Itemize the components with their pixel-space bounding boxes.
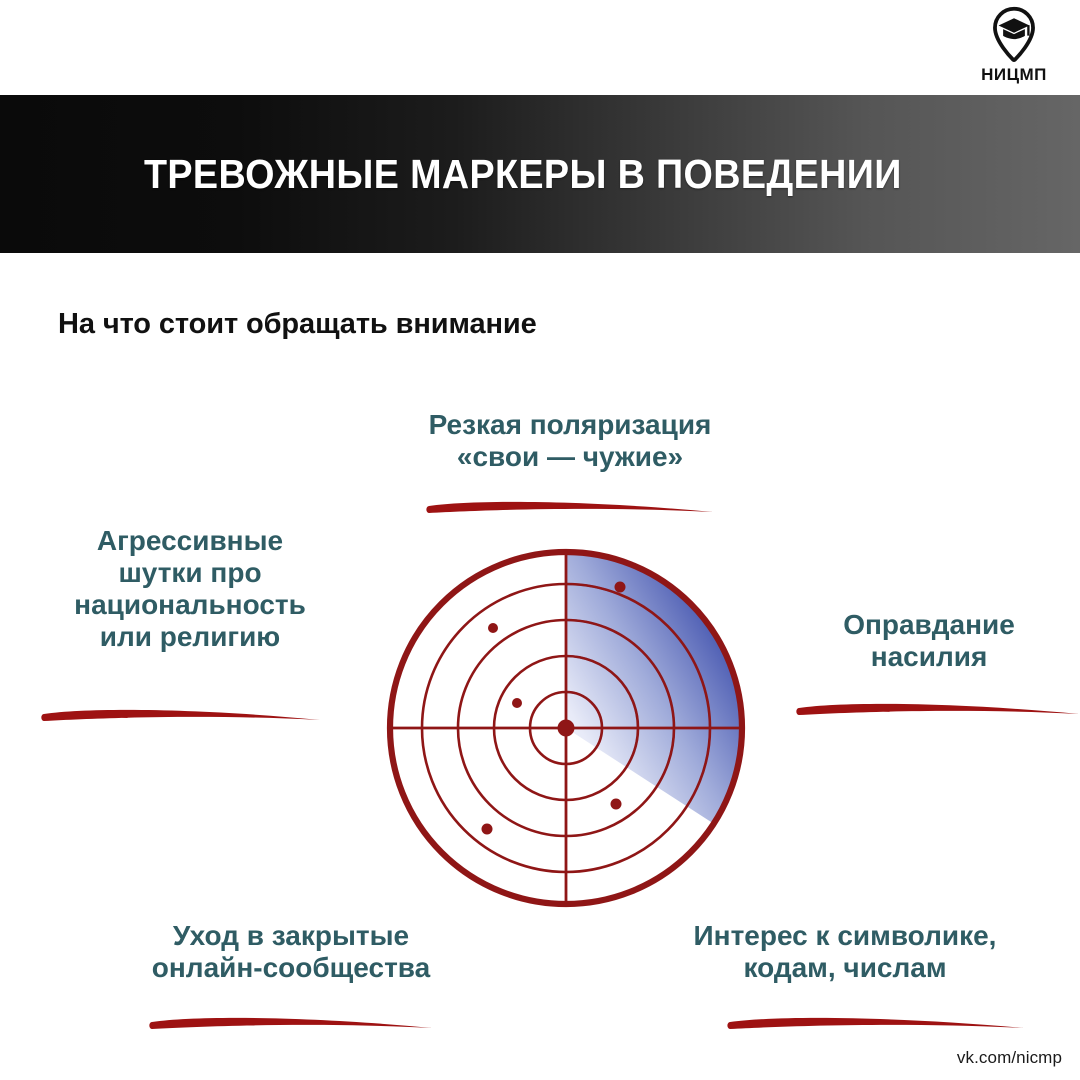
marker-line: кодам, числам [650,952,1040,984]
brand-logo: НИЦМП [962,6,1066,90]
marker-line: национальность [30,589,350,621]
header-banner: ТРЕВОЖНЫЕ МАРКЕРЫ В ПОВЕДЕНИИ [0,95,1080,253]
marker-label-polarization: Резкая поляризация «свои — чужие» [370,409,770,473]
underline-swoosh-icon [795,694,1080,724]
radar-sweep-icon [386,548,746,908]
radar-blip [615,582,626,593]
marker-label-aggressive-jokes: Агрессивные шутки про национальность или… [30,525,350,653]
marker-line: Уход в закрытые [98,920,484,952]
brand-wordmark: НИЦМП [981,66,1047,83]
underline-swoosh-icon [40,700,322,730]
radar-blip [512,698,522,708]
marker-line: Агрессивные [30,525,350,557]
marker-label-symbols-codes-numbers: Интерес к символике, кодам, числам [650,920,1040,984]
marker-label-closed-communities: Уход в закрытые онлайн-сообщества [98,920,484,984]
marker-label-justifying-violence: Оправдание насилия [782,609,1076,673]
marker-line: Интерес к символике, [650,920,1040,952]
marker-line: Оправдание [782,609,1076,641]
underline-swoosh-icon [148,1008,434,1038]
radar-blip [482,824,493,835]
radar-blip [611,799,622,810]
page-title: ТРЕВОЖНЫЕ МАРКЕРЫ В ПОВЕДЕНИИ [144,151,902,198]
radar-sweep-sector [422,552,742,872]
marker-line: насилия [782,641,1076,673]
marker-line: онлайн-сообщества [98,952,484,984]
radar-blip [488,623,498,633]
subtitle: На что стоит обращать внимание [58,308,537,341]
marker-line: или религию [30,621,350,653]
marker-line: шутки про [30,557,350,589]
underline-swoosh-icon [726,1008,1026,1038]
footer-link[interactable]: vk.com/nicmp [957,1048,1062,1068]
marker-line: «свои — чужие» [370,441,770,473]
underline-swoosh-icon [425,492,715,522]
pin-graduation-cap-icon [985,6,1043,64]
infographic-page: НИЦМП ТРЕВОЖНЫЕ МАРКЕРЫ В ПОВЕДЕНИИ На ч… [0,0,1080,1080]
radar-center-dot [558,720,575,737]
marker-line: Резкая поляризация [370,409,770,441]
